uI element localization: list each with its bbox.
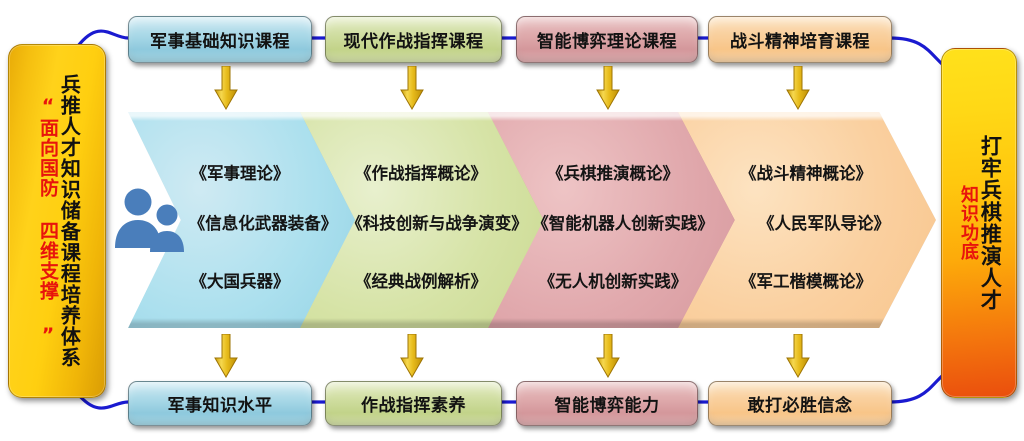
book-2-1: 《作战指挥概论》 [355,160,487,184]
diagram-canvas: 兵推人才知识储备课程培养体系 “面向国防 四维支撑 ” 打牢兵棋推演人才 知识功… [0,0,1024,441]
course-box-4-label: 战斗精神培育课程 [730,27,870,52]
course-box-1-label: 军事基础知识课程 [150,27,290,52]
book-4-1: 《战斗精神概论》 [740,160,872,184]
outcome-box-3[interactable]: 智能博弈能力 [516,381,698,426]
down-arrow-bottom-4 [785,334,811,378]
down-arrow-bottom-3 [595,334,621,378]
book-3-3: 《无人机创新实践》 [539,268,688,292]
book-1-3: 《大国兵器》 [191,268,290,292]
right-panel-red-subtitle: 知识功底 [959,185,977,261]
course-box-3-label: 智能博弈理论课程 [537,27,677,52]
outcome-box-2-label: 作战指挥素养 [361,391,466,416]
course-box-3[interactable]: 智能博弈理论课程 [516,16,698,63]
course-box-2[interactable]: 现代作战指挥课程 [325,16,502,63]
outcome-box-4-label: 敢打必胜信念 [748,391,853,416]
book-4-2: 《人民军队导论》 [758,210,890,234]
down-arrow-bottom-2 [399,334,425,378]
outcome-box-1-label: 军事知识水平 [168,391,273,416]
down-arrow-top-3 [595,66,621,110]
right-panel-black-title: 打牢兵棋推演人才 [979,135,1000,311]
book-4-3: 《军工楷模概论》 [740,268,872,292]
book-1-2: 《信息化武器装备》 [189,210,338,234]
down-arrow-top-1 [213,66,239,110]
right-title-panel: 打牢兵棋推演人才 知识功底 [941,48,1017,398]
outcome-box-1[interactable]: 军事知识水平 [128,381,312,426]
down-arrow-top-4 [785,66,811,110]
book-2-2: 《科技创新与战争演变》 [346,210,528,234]
down-arrow-bottom-1 [213,334,239,378]
people-icon [113,182,187,254]
course-box-2-label: 现代作战指挥课程 [344,27,484,52]
outcome-box-2[interactable]: 作战指挥素养 [325,381,502,426]
course-box-1[interactable]: 军事基础知识课程 [128,16,312,63]
book-2-3: 《经典战例解析》 [355,268,487,292]
book-3-1: 《兵棋推演概论》 [547,160,679,184]
book-3-2: 《智能机器人创新实践》 [532,210,714,234]
down-arrow-top-2 [399,66,425,110]
left-panel-red-subtitle: “面向国防 四维支撑 ” [38,95,57,347]
left-panel-black-title: 兵推人才知识储备课程培养体系 [59,74,79,368]
course-box-4[interactable]: 战斗精神培育课程 [708,16,892,63]
outcome-box-3-label: 智能博弈能力 [555,391,660,416]
left-title-panel: 兵推人才知识储备课程培养体系 “面向国防 四维支撑 ” [8,44,106,398]
outcome-box-4[interactable]: 敢打必胜信念 [708,381,892,426]
book-1-1: 《军事理论》 [191,160,290,184]
